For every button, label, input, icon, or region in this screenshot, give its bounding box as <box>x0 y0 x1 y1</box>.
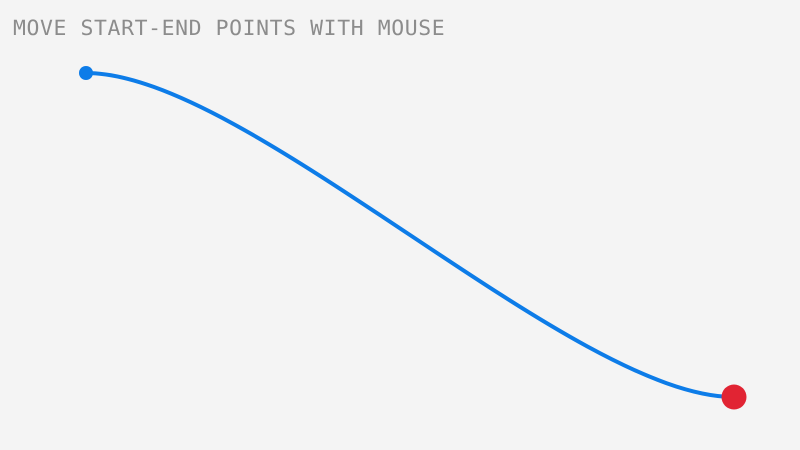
curve-canvas[interactable] <box>0 0 800 450</box>
bezier-demo-app[interactable]: MOVE START-END POINTS WITH MOUSE <box>0 0 800 450</box>
page-title: MOVE START-END POINTS WITH MOUSE <box>13 16 445 40</box>
end-point-drag-target[interactable] <box>718 381 751 414</box>
canvas-background <box>0 0 800 450</box>
start-point-drag-target[interactable] <box>75 62 97 84</box>
